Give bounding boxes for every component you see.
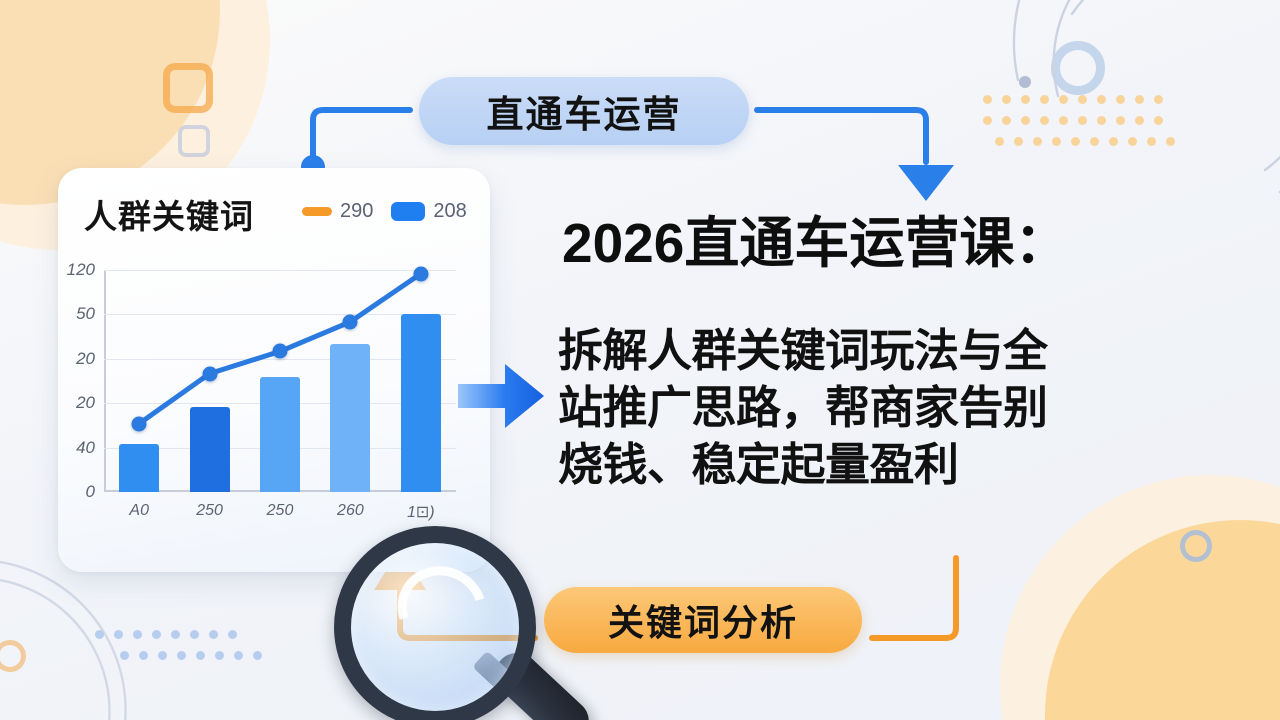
y-tick-label: 50 (76, 304, 95, 324)
badge-top[interactable]: 直通车运营 (419, 77, 749, 145)
card-title: 人群关键词 (84, 190, 254, 238)
decor-dot (133, 630, 142, 639)
decor-dot (1014, 137, 1023, 146)
legend-item-line: 290 (302, 200, 373, 223)
line-point (132, 416, 147, 431)
legend-item-bar: 208 (391, 200, 466, 223)
decor-dot (253, 651, 262, 660)
decor-dot (1040, 95, 1049, 104)
decor-arcs-bottom-left (0, 560, 182, 720)
decor-dot (1116, 95, 1125, 104)
decor-dot (228, 630, 237, 639)
x-tick-label: 260 (337, 502, 364, 520)
decor-dot (196, 651, 205, 660)
decor-dot (1052, 137, 1061, 146)
x-tick-label: 250 (196, 502, 223, 520)
decor-dot (1090, 137, 1099, 146)
decor-dot (1021, 116, 1030, 125)
decor-dot (1040, 116, 1049, 125)
decor-dot (1128, 137, 1137, 146)
decor-ring-blue-bottom-right (1180, 530, 1212, 562)
line-series-layer (104, 270, 456, 492)
decor-dot (95, 630, 104, 639)
line-point (413, 266, 428, 281)
y-tick-label: 20 (76, 393, 95, 413)
y-tick-label: 120 (67, 260, 95, 280)
decor-dotgrid-orange (983, 95, 1183, 155)
decor-dot (114, 630, 123, 639)
decor-dot (1021, 95, 1030, 104)
decor-ring-orange-small (163, 63, 213, 113)
decor-dot (152, 630, 161, 639)
decor-dot (1097, 95, 1106, 104)
decor-dot (983, 95, 992, 104)
legend-label-bar: 208 (433, 200, 466, 223)
decor-dot (1109, 137, 1118, 146)
decor-dot (1166, 137, 1175, 146)
x-tick-label: A0 (129, 502, 149, 520)
decor-dot (215, 651, 224, 660)
page-title: 2026直通车运营课： (562, 214, 1252, 273)
legend-swatch-bar-icon (391, 202, 425, 221)
y-tick-label: 20 (76, 349, 95, 369)
decor-dot (1135, 116, 1144, 125)
legend-label-line: 290 (340, 200, 373, 223)
decor-dotgrid-blue (95, 630, 265, 670)
decor-dot (1147, 137, 1156, 146)
chart-card: 人群关键词 290 208 120502020400 A02502502601⊡… (58, 168, 490, 572)
decor-dot (1097, 116, 1106, 125)
decor-blob-bottom-right-inner (1045, 520, 1280, 720)
decor-dot (234, 651, 243, 660)
decor-dot (171, 630, 180, 639)
badge-bottom[interactable]: 关键词分析 (544, 587, 862, 653)
decor-dot (1071, 137, 1080, 146)
decor-dot (1002, 116, 1011, 125)
decor-ring-gray-small (178, 125, 210, 157)
badge-top-label: 直通车运营 (487, 84, 682, 138)
decor-dot (1078, 116, 1087, 125)
decor-dot (1059, 116, 1068, 125)
x-tick-label: 250 (267, 502, 294, 520)
y-tick-label: 40 (76, 438, 95, 458)
badge-bottom-label: 关键词分析 (608, 594, 798, 646)
chart-legend: 290 208 (302, 200, 467, 223)
decor-dot (1116, 116, 1125, 125)
magnifier-glint (383, 551, 502, 667)
y-tick-label: 0 (86, 482, 95, 502)
decor-dot (139, 651, 148, 660)
subtitle-line: 拆解人群关键词玩法与全 (558, 322, 1250, 379)
decor-dot (995, 137, 1004, 146)
decor-dot (1154, 116, 1163, 125)
decor-dot (1002, 95, 1011, 104)
line-point (343, 314, 358, 329)
decor-dot (1135, 95, 1144, 104)
decor-dot (1033, 137, 1042, 146)
decor-arcs-top-right (980, 0, 1280, 210)
decor-dot (983, 116, 992, 125)
chart-plot-area: 120502020400 A02502502601⊡) (104, 270, 456, 492)
magnifier-ring (334, 526, 536, 720)
line-point (273, 344, 288, 359)
decor-dot (1154, 95, 1163, 104)
decor-dot (209, 630, 218, 639)
arrow-right-icon (458, 358, 544, 434)
decor-dot (1059, 95, 1068, 104)
decor-dot (158, 651, 167, 660)
decor-ring-blue-top-right (1051, 41, 1105, 95)
decor-ring-orange-bottom-left (0, 640, 26, 672)
subtitle-line: 烧钱、稳定起量盈利 (558, 436, 1250, 493)
decor-blob-bottom-right-outer (1000, 475, 1280, 720)
poster-canvas: 人群关键词 290 208 120502020400 A02502502601⊡… (0, 0, 1280, 720)
subtitle-line: 站推广思路，帮商家告别 (558, 379, 1250, 436)
legend-swatch-line-icon (302, 207, 332, 216)
arrow-down-icon (898, 165, 954, 201)
line-point (202, 366, 217, 381)
x-tick-label: 1⊡) (407, 502, 435, 522)
decor-dot (190, 630, 199, 639)
decor-dot (1078, 95, 1087, 104)
magnifier-icon (334, 526, 534, 720)
decor-dot (177, 651, 186, 660)
subtitle-block: 拆解人群关键词玩法与全站推广思路，帮商家告别烧钱、稳定起量盈利 (558, 322, 1250, 493)
decor-dot (120, 651, 129, 660)
